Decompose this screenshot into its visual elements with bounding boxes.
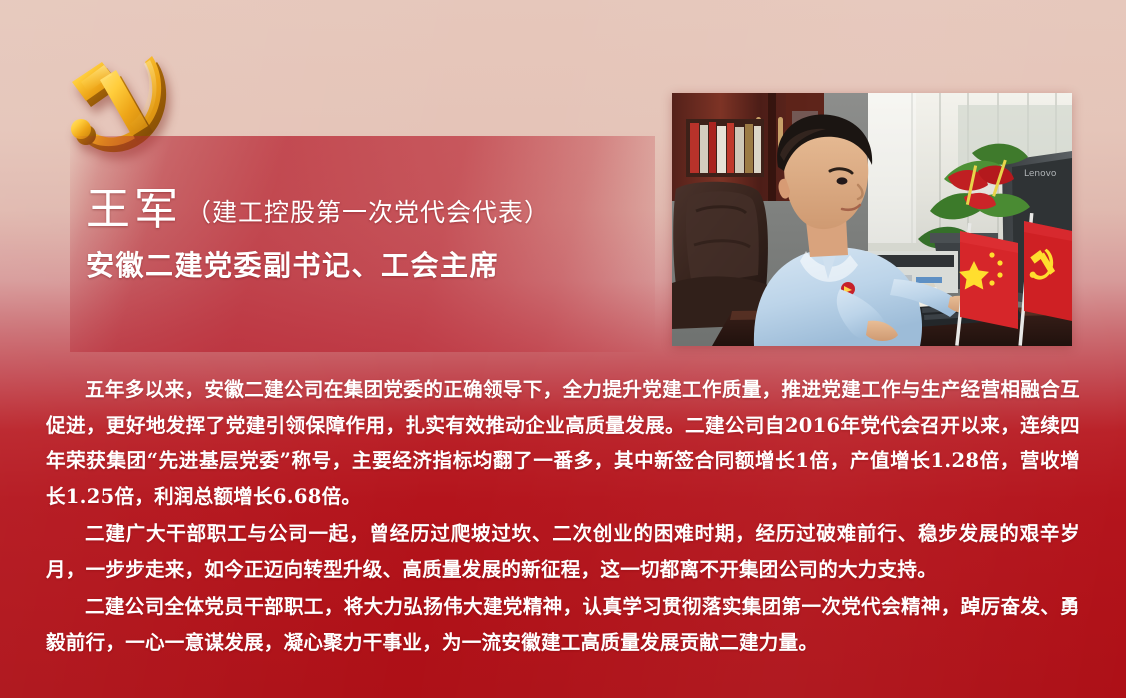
poster-root: 王军（建工控股第一次党代会代表） 安徽二建党委副书记、工会主席 男士身着浅蓝色衬…	[0, 0, 1126, 698]
article-body: 五年多以来，安徽二建公司在集团党委的正确领导下，全力提升党建工作质量，推进党建工…	[46, 372, 1080, 660]
article-paragraph-2: 二建广大干部职工与公司一起，曾经历过爬坡过坎、二次创业的困难时期，经历过破难前行…	[46, 516, 1080, 587]
speaker-name-row: 王军（建工控股第一次党代会代表）	[86, 188, 646, 232]
speaker-name-panel-content: 王军（建工控股第一次党代会代表） 安徽二建党委副书记、工会主席	[86, 188, 646, 280]
speaker-role: （建工控股第一次党代会代表）	[186, 198, 550, 227]
speaker-name-panel: 王军（建工控股第一次党代会代表） 安徽二建党委副书记、工会主席	[70, 136, 655, 352]
speaker-photo: 男士身着浅蓝色衬衫坐在办公桌前操作电脑，桌上有笔记本和鼠标，右侧摆放中国国旗与党…	[672, 93, 1072, 346]
article-paragraph-3: 二建公司全体党员干部职工，将大力弘扬伟大建党精神，认真学习贯彻落实集团第一次党代…	[46, 589, 1080, 660]
article-paragraph-1: 五年多以来，安徽二建公司在集团党委的正确领导下，全力提升党建工作质量，推进党建工…	[46, 372, 1080, 514]
speaker-name: 王军	[86, 184, 182, 235]
speaker-title: 安徽二建党委副书记、工会主席	[86, 252, 646, 280]
svg-text:Lenovo: Lenovo	[1024, 169, 1057, 179]
speaker-photo-frame: 男士身着浅蓝色衬衫坐在办公桌前操作电脑，桌上有笔记本和鼠标，右侧摆放中国国旗与党…	[672, 93, 1072, 346]
